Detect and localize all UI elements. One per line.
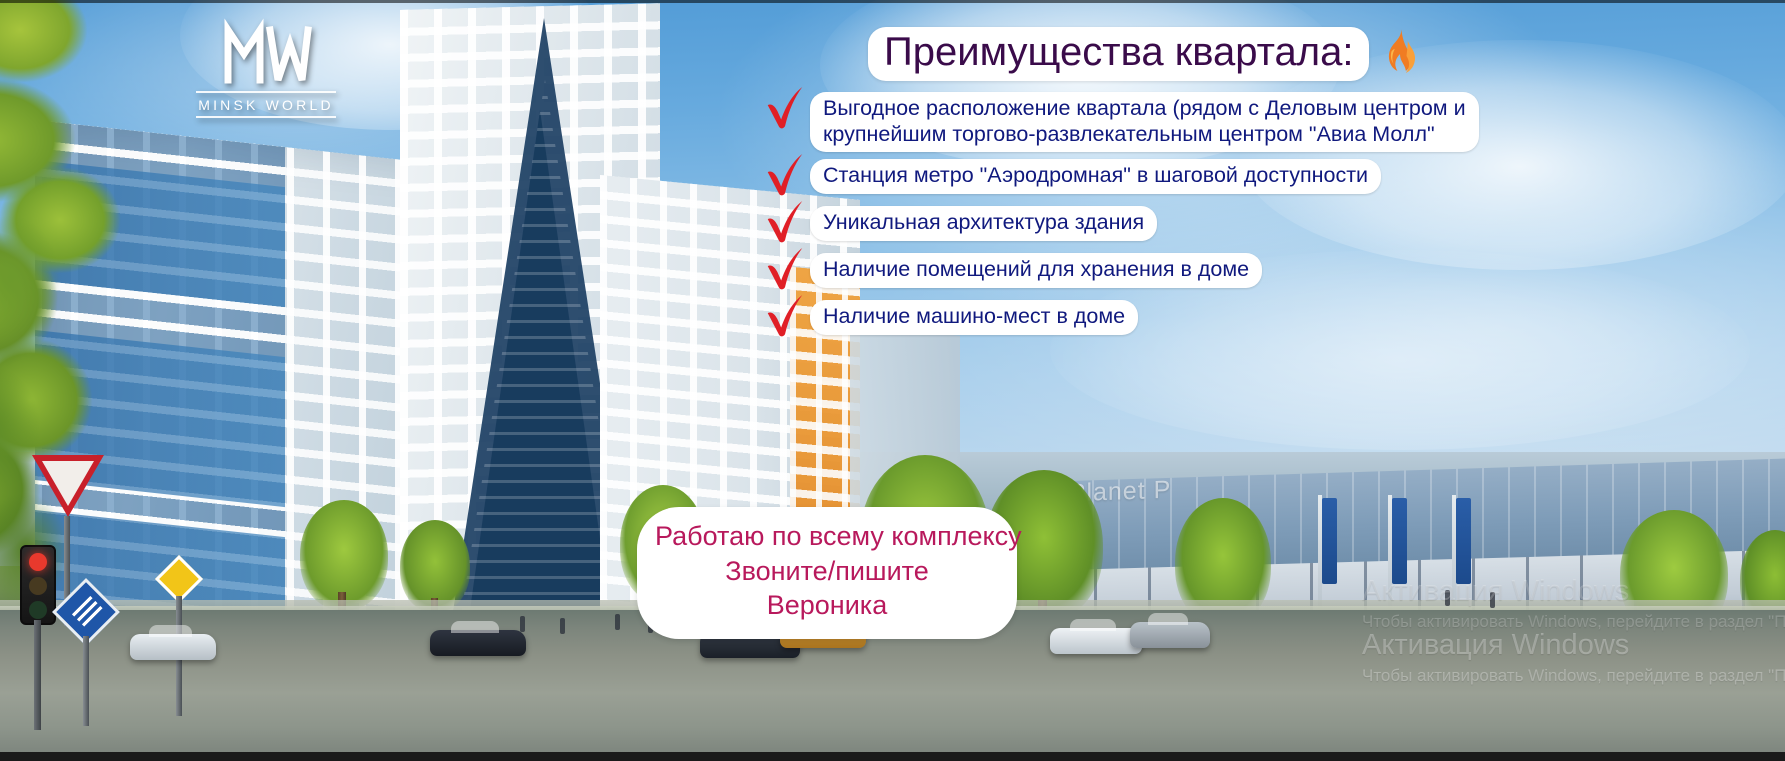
pedestrian: [560, 618, 565, 634]
pedestrian: [520, 616, 525, 632]
logo-divider: [196, 91, 336, 93]
bottom-letterbox-bar: [0, 752, 1785, 761]
mw-monogram-icon: [218, 18, 314, 88]
pedestrian: [1490, 592, 1495, 608]
traffic-light-pole: [34, 620, 41, 730]
traffic-light: [20, 545, 56, 625]
list-item: Наличие машино-мест в доме: [762, 300, 1479, 340]
advantages-title-block: Преимущества квартала:: [868, 27, 1421, 81]
list-item-text-line1: Наличие помещений для хранения в доме: [823, 256, 1249, 282]
sign-pole: [83, 636, 89, 726]
list-item-pill: Уникальная архитектура здания: [810, 206, 1157, 240]
flag-banner: [1456, 498, 1471, 584]
contact-card: Работаю по всему комплексу Звоните/пишит…: [637, 507, 1017, 639]
screenshot-canvas: ry Planet P: [0, 0, 1785, 761]
list-item-text-line1: Станция метро "Аэродромная" в шаговой до…: [823, 162, 1368, 188]
red-check-icon: [762, 153, 808, 199]
car: [130, 634, 216, 660]
contact-line-call-write: Звоните/пишите: [655, 554, 999, 589]
title-pill: Преимущества квартала:: [868, 27, 1369, 81]
minsk-world-logo: MINSK WORLD: [196, 18, 336, 118]
red-check-icon: [762, 247, 808, 293]
red-check-icon: [762, 294, 808, 340]
flag-banner: [1322, 498, 1337, 584]
list-item-pill: Выгодное расположение квартала (рядом с …: [810, 92, 1479, 152]
yield-sign-inner: [42, 461, 94, 506]
car: [1130, 622, 1210, 648]
contact-line-name: Вероника: [655, 588, 999, 623]
pedestrian: [1445, 590, 1450, 606]
traffic-light-green: [29, 601, 47, 619]
list-item-text-line1: Уникальная архитектура здания: [823, 209, 1144, 235]
red-check-icon: [762, 200, 808, 246]
logo-divider: [196, 116, 336, 118]
red-check-icon: [762, 86, 808, 132]
list-item-text-line1: Наличие машино-мест в доме: [823, 303, 1125, 329]
list-item-pill: Наличие машино-мест в доме: [810, 300, 1138, 334]
fire-icon: [1379, 28, 1421, 80]
list-item-pill: Станция метро "Аэродромная" в шаговой до…: [810, 159, 1381, 193]
list-item: Станция метро "Аэродромная" в шаговой до…: [762, 159, 1479, 199]
list-item: Выгодное расположение квартала (рядом с …: [762, 92, 1479, 152]
car: [430, 630, 526, 656]
contact-line-work-scope: Работаю по всему комплексу: [655, 519, 999, 554]
pedestrian: [615, 614, 620, 630]
logo-name: MINSK WORLD: [196, 97, 336, 113]
list-item: Уникальная архитектура здания: [762, 206, 1479, 246]
list-item-pill: Наличие помещений для хранения в доме: [810, 253, 1262, 287]
advantages-list: Выгодное расположение квартала (рядом с …: [762, 92, 1479, 340]
flag-banner: [1392, 498, 1407, 584]
building-wedge-glass: [470, 110, 610, 610]
car: [1050, 628, 1142, 654]
traffic-light-amber: [29, 577, 47, 595]
list-item-text-line2: крупнейшим торгово-развлекательным центр…: [823, 121, 1466, 147]
list-item-text-line1: Выгодное расположение квартала (рядом с …: [823, 95, 1466, 121]
traffic-light-red: [29, 553, 47, 571]
top-letterbox-bar: [0, 0, 1785, 3]
page-title: Преимущества квартала:: [884, 30, 1353, 74]
list-item: Наличие помещений для хранения в доме: [762, 253, 1479, 293]
